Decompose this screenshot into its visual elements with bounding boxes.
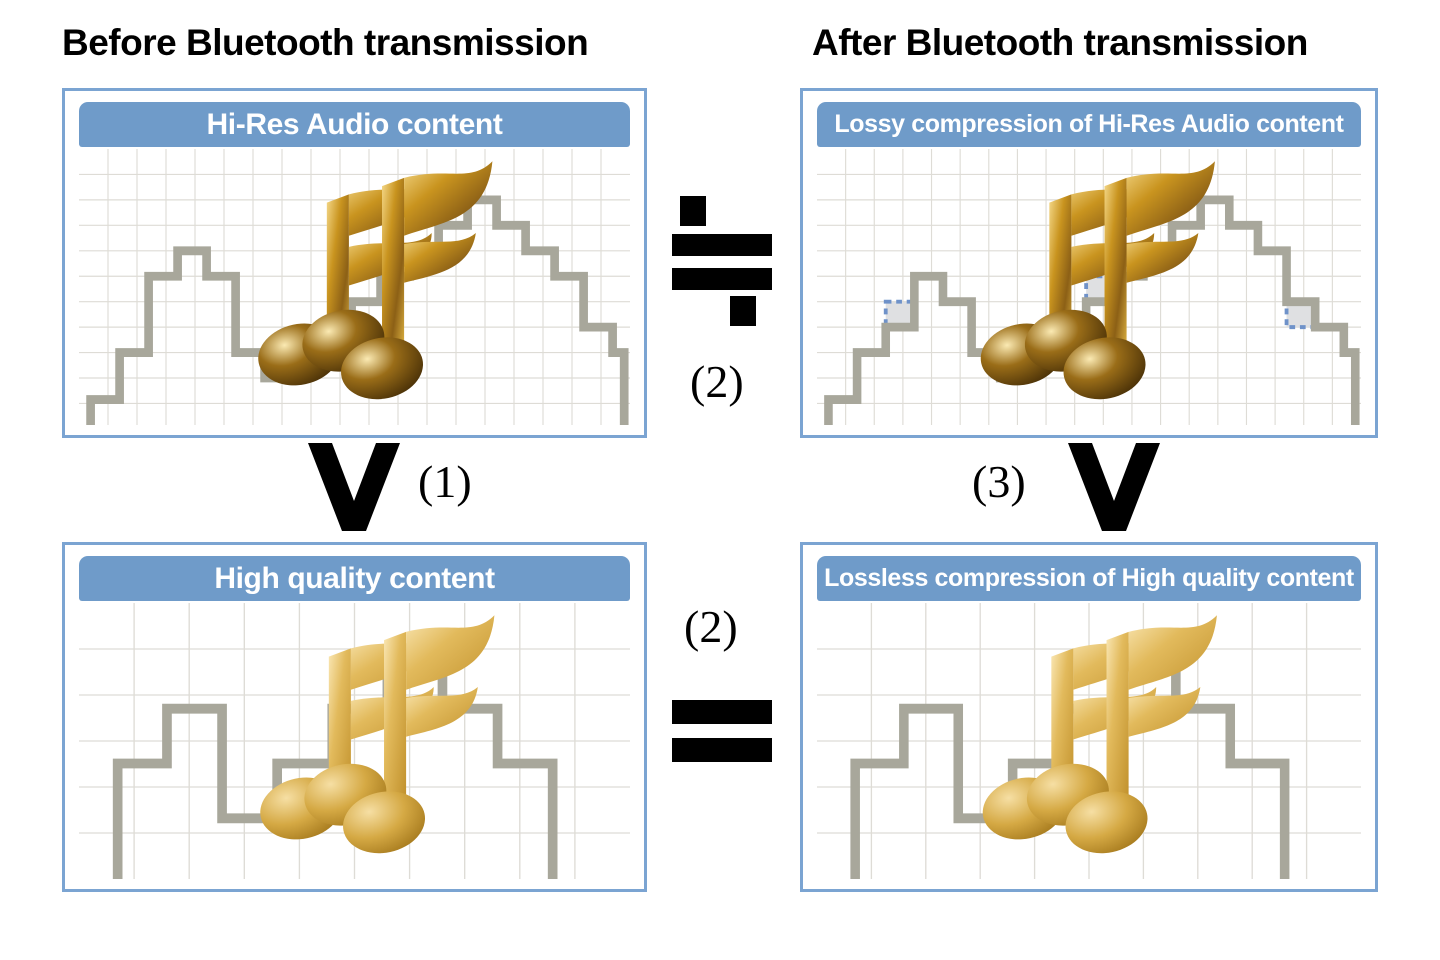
step-label-2-bottom: (2)	[684, 600, 738, 653]
not-equal-slash-upper	[680, 196, 706, 226]
diagram-canvas: Before Bluetooth transmission After Blue…	[0, 0, 1440, 960]
panel-title-lossless-compression-high-quality: Lossless compression of High quality con…	[817, 556, 1361, 601]
down-chevron-arrow-icon	[306, 443, 402, 531]
not-equal-slash-lower	[730, 296, 756, 326]
panel-high-quality-content: High quality content	[62, 542, 647, 892]
panel-title-high-quality-content: High quality content	[79, 556, 630, 601]
not-equal-symbol	[672, 196, 792, 326]
grid-lines	[817, 603, 1361, 879]
down-chevron-arrow-icon	[1066, 443, 1162, 531]
panel-lossless-compression-high-quality: Lossless compression of High quality con…	[800, 542, 1378, 892]
waveform-svg-hi-res-after-lossy	[817, 149, 1361, 425]
waveform-plot-high-quality-before	[79, 603, 630, 879]
waveform-plot-hi-res-after-lossy	[817, 149, 1361, 425]
equal-bar-upper	[672, 700, 772, 724]
waveform-plot-high-quality-after-lossless	[817, 603, 1361, 879]
waveform-plot-hi-res-before	[79, 149, 630, 425]
panel-lossy-compression-hi-res: Lossy compression of Hi-Res Audio conten…	[800, 88, 1378, 438]
heading-before-transmission: Before Bluetooth transmission	[62, 22, 588, 64]
grid-lines	[79, 149, 630, 425]
heading-after-transmission: After Bluetooth transmission	[812, 22, 1308, 64]
waveform-svg-high-quality-before	[79, 603, 630, 879]
panel-title-lossy-compression-hi-res: Lossy compression of Hi-Res Audio conten…	[817, 102, 1361, 147]
not-equal-bar-upper	[672, 234, 772, 256]
panel-title-hi-res-audio-content: Hi-Res Audio content	[79, 102, 630, 147]
step-label-1: (1)	[418, 455, 472, 508]
not-equal-bar-lower	[672, 268, 772, 290]
waveform-svg-high-quality-after-lossless	[817, 603, 1361, 879]
waveform-path	[91, 200, 625, 425]
waveform-path	[118, 654, 553, 879]
equal-symbol	[672, 700, 782, 770]
step-label-3: (3)	[972, 455, 1026, 508]
step-label-2-top: (2)	[690, 355, 744, 408]
waveform-path	[855, 654, 1284, 879]
equal-bar-lower	[672, 738, 772, 762]
waveform-svg-hi-res-before	[79, 149, 630, 425]
grid-lines	[79, 603, 630, 879]
panel-hi-res-audio-content: Hi-Res Audio content	[62, 88, 647, 438]
